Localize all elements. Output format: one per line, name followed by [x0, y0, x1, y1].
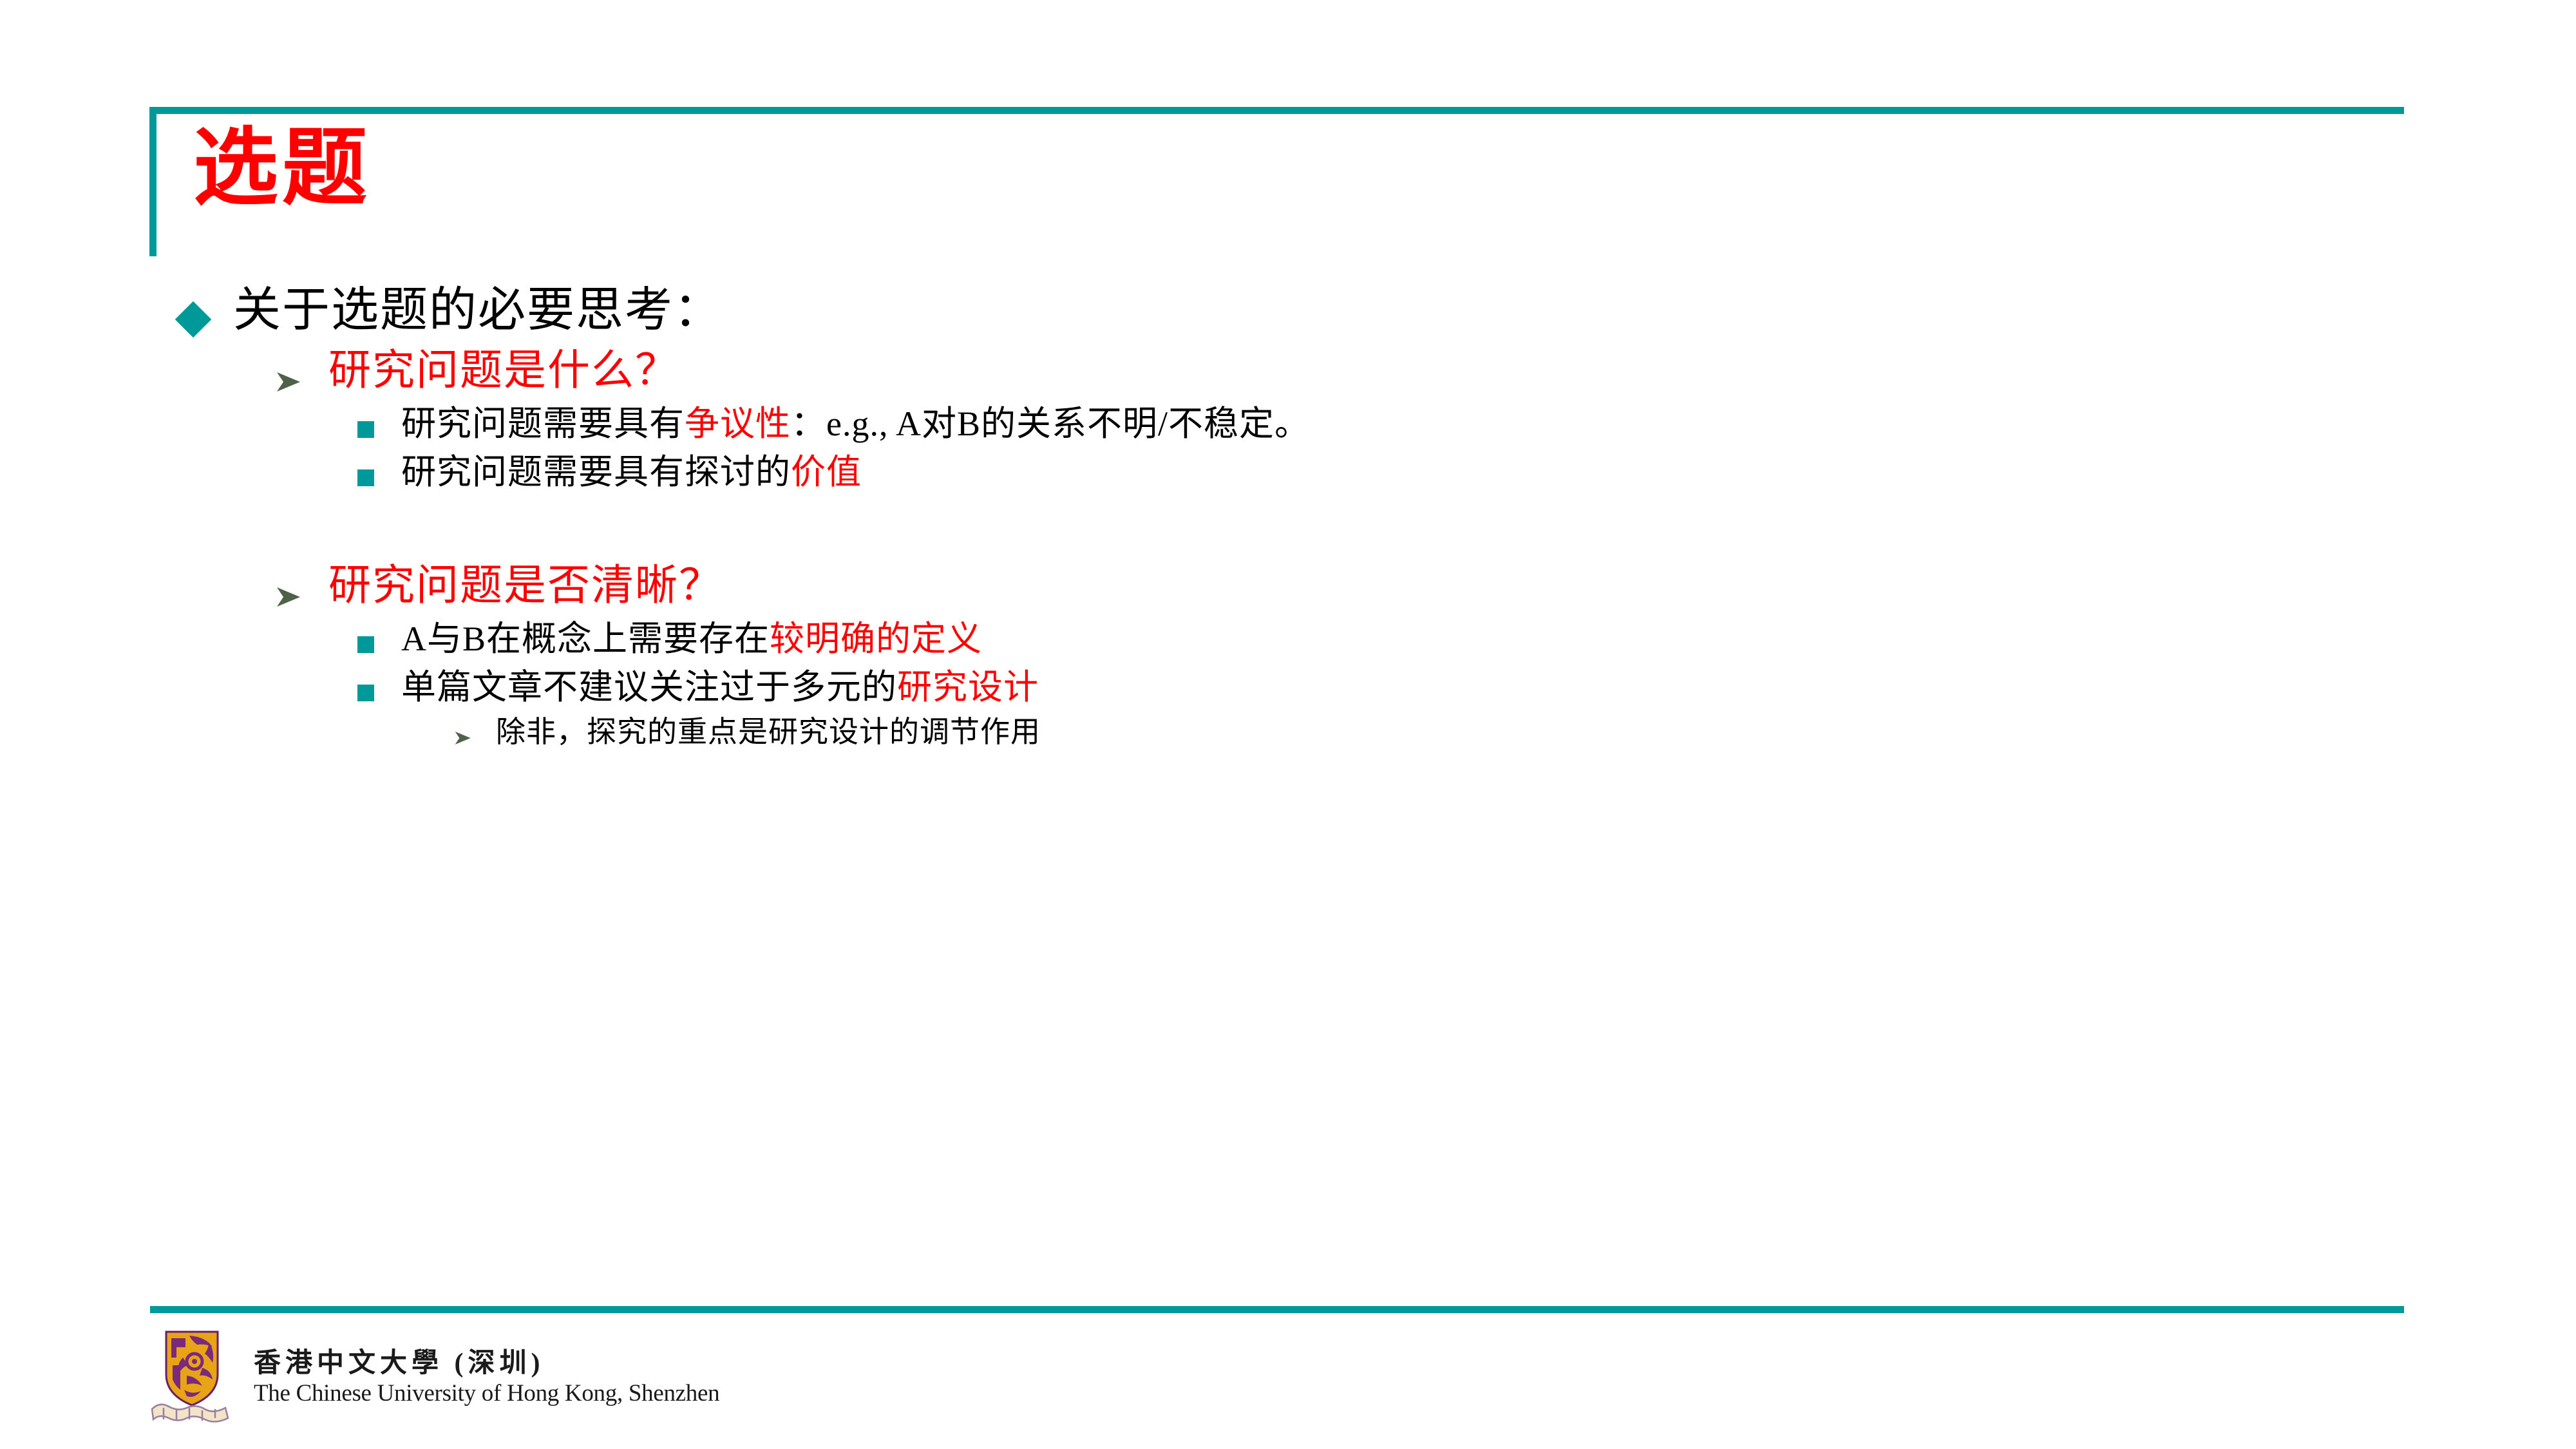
- question-2-label: 研究问题是否清晰？: [328, 560, 723, 611]
- page-title: 选题: [193, 126, 371, 211]
- title-top-rule: [149, 107, 2404, 114]
- slide-body: 关于选题的必要思考： 研究问题是什么？ 研究问题需要具有争议性：e.g., A对…: [0, 283, 2576, 753]
- q1-point-1-post: ：e.g., A对B的关系不明/不稳定。: [791, 404, 1310, 443]
- outline-item-question-2: 研究问题是否清晰？: [0, 560, 2576, 614]
- q2-point-2-highlight: 研究设计: [897, 668, 1039, 706]
- q1-point-1-highlight: 争议性: [685, 404, 791, 443]
- outline-item-question-1: 研究问题是什么？: [0, 345, 2576, 399]
- outline-item-q1-point-2: 研究问题需要具有探讨的价值: [0, 450, 2576, 495]
- q1-point-2-pre: 研究问题需要具有探讨的: [401, 453, 791, 491]
- brand-text: 香港中文大學 (深圳) The Chinese University of Ho…: [254, 1348, 719, 1408]
- q2-point-2-text: 单篇文章不建议关注过于多元的研究设计: [401, 665, 1039, 710]
- arrow-bullet-icon: [451, 726, 474, 750]
- q1-point-2-text: 研究问题需要具有探讨的价值: [401, 450, 862, 495]
- outline-item-q2-point-1: A与B在概念上需要存在较明确的定义: [0, 617, 2576, 661]
- question-1-label: 研究问题是什么？: [328, 345, 679, 396]
- outline-item-q1-point-1: 研究问题需要具有争议性：e.g., A对B的关系不明/不稳定。: [0, 402, 2576, 446]
- arrow-bullet-icon: [270, 580, 305, 614]
- q2-point-1-text: A与B在概念上需要存在较明确的定义: [401, 617, 982, 661]
- q2-point-1-highlight: 较明确的定义: [770, 620, 982, 658]
- q1-point-1-text: 研究问题需要具有争议性：e.g., A对B的关系不明/不稳定。: [401, 402, 1310, 446]
- square-bullet-icon: [357, 636, 374, 653]
- q1-point-2-highlight: 价值: [791, 453, 862, 491]
- q2-point-1-pre: A与B在概念上需要存在: [401, 620, 770, 658]
- square-bullet-icon: [357, 685, 374, 701]
- q2-subpoint-text: 除非，探究的重点是研究设计的调节作用: [496, 714, 1041, 751]
- brand-name-english: The Chinese University of Hong Kong, She…: [254, 1379, 719, 1408]
- footer-brand: 香港中文大學 (深圳) The Chinese University of Ho…: [147, 1328, 719, 1428]
- title-left-accent-bar: [149, 107, 156, 256]
- square-bullet-icon: [357, 421, 374, 438]
- outline-item-q2-subpoint: 除非，探究的重点是研究设计的调节作用: [0, 714, 2576, 751]
- brand-name-chinese: 香港中文大學 (深圳): [254, 1348, 719, 1380]
- footer-rule: [150, 1306, 2404, 1313]
- outline-level1-label: 关于选题的必要思考：: [233, 283, 723, 339]
- square-bullet-icon: [357, 469, 374, 486]
- q2-point-2-pre: 单篇文章不建议关注过于多元的: [401, 668, 897, 706]
- cuhk-shield-logo-icon: [147, 1328, 237, 1428]
- q1-point-1-pre: 研究问题需要具有: [401, 404, 685, 443]
- outline-item-level1: 关于选题的必要思考：: [0, 283, 2576, 339]
- arrow-bullet-icon: [270, 365, 305, 399]
- outline-item-q2-point-2: 单篇文章不建议关注过于多元的研究设计: [0, 665, 2576, 710]
- section-spacer: [0, 498, 2576, 560]
- diamond-bullet-icon: [175, 301, 212, 338]
